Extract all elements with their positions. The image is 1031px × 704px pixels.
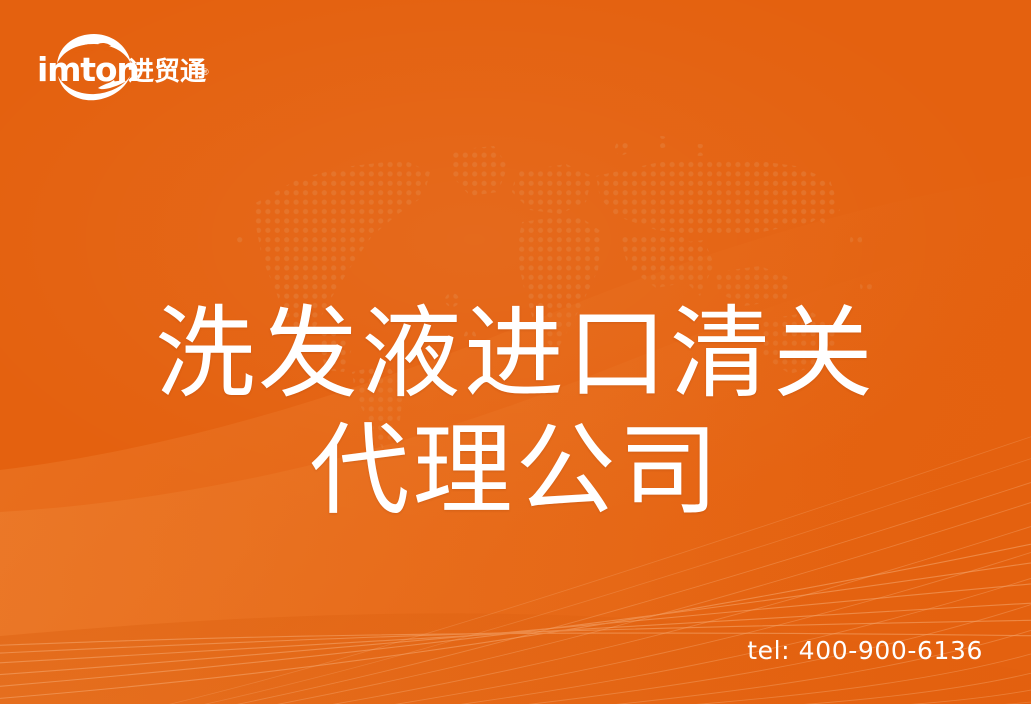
- banner-canvas: imton 进贸通 ® 洗发液进口清关 代理公司 tel: 400-900-61…: [0, 0, 1031, 704]
- logo-chinese-name: 进贸通: [128, 57, 206, 87]
- page-title-line-1: 洗发液进口清关: [0, 295, 1031, 412]
- logo-wordmark: imton: [37, 50, 139, 89]
- registered-trademark-icon: ®: [202, 68, 209, 77]
- brand-logo[interactable]: imton 进贸通 ®: [36, 30, 216, 102]
- contact-phone[interactable]: tel: 400-900-6136: [747, 636, 983, 666]
- logo-mark-icon: imton 进贸通: [36, 30, 216, 102]
- page-title: 洗发液进口清关 代理公司: [0, 295, 1031, 529]
- page-title-line-2: 代理公司: [0, 412, 1031, 529]
